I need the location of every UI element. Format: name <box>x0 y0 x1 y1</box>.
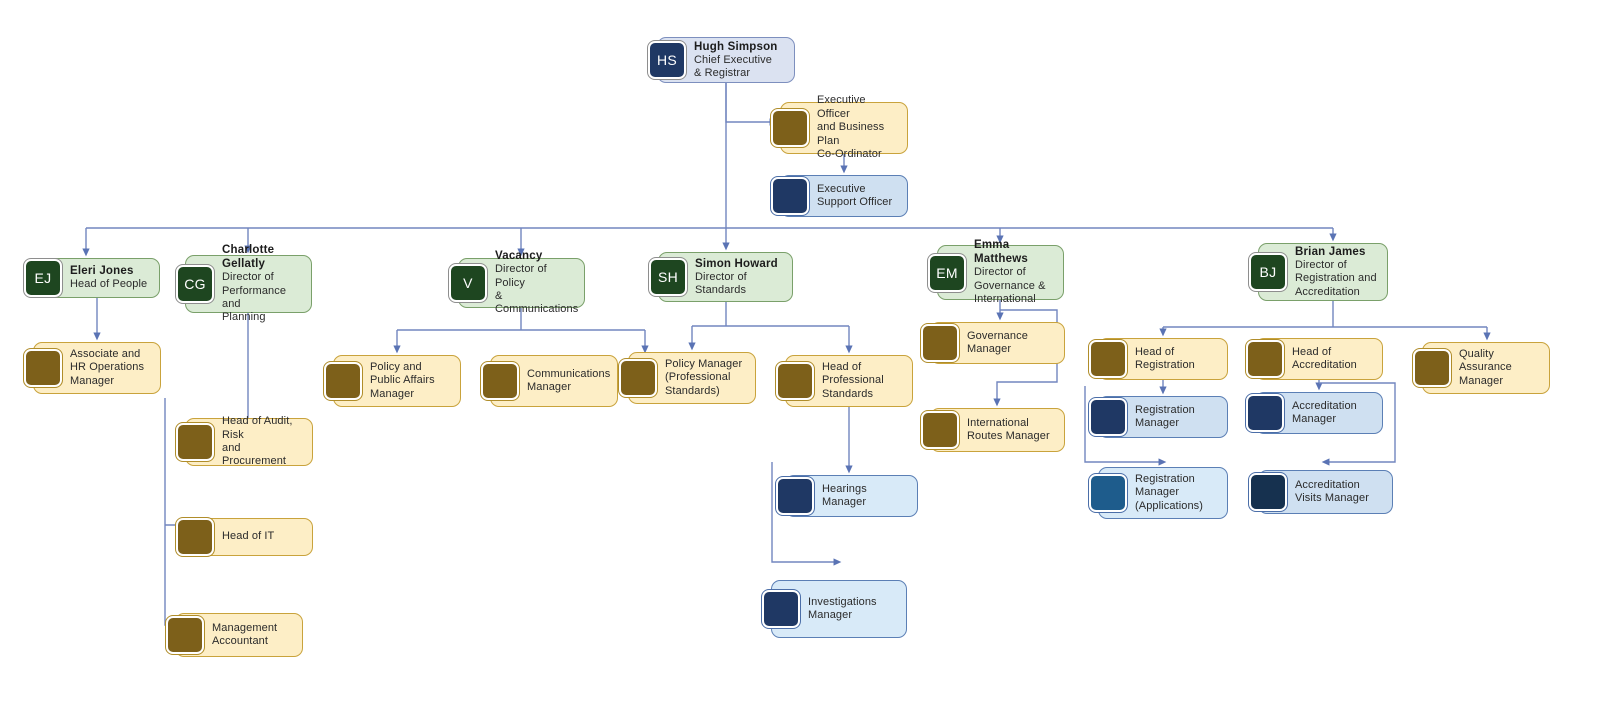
node-role-ceo-line1: & Registrar <box>694 67 786 80</box>
avatar-icon-acc_mgr <box>1246 394 1284 432</box>
avatar-icon-ceo: HS <box>648 41 686 79</box>
avatar-icon-comms <box>481 362 519 400</box>
org-node-emma[interactable]: EMEmma MatthewsDirector ofGovernance &In… <box>937 245 1064 300</box>
node-name-charlotte: Charlotte Gellatly <box>222 243 303 271</box>
org-node-charlotte[interactable]: CGCharlotte GellatlyDirector ofPerforman… <box>185 255 312 313</box>
org-node-reg_mgr_app[interactable]: RegistrationManager(Applications) <box>1098 467 1228 519</box>
avatar-icon-simon: SH <box>649 258 687 296</box>
node-role-policy_mgr-line1: (Professional <box>665 371 747 384</box>
node-role-acc_mgr-line1: Manager <box>1292 413 1374 426</box>
node-role-qa_mgr-line2: Manager <box>1459 375 1541 388</box>
org-node-assoc_hr[interactable]: Associate andHR OperationsManager <box>33 342 161 394</box>
node-role-exec_officer-line2: Co-Ordinator <box>817 148 899 161</box>
org-node-policy_pa[interactable]: Policy andPublic AffairsManager <box>333 355 461 407</box>
avatar-icon-gov_mgr <box>921 324 959 362</box>
node-role-exec_support-line0: Executive <box>817 183 899 196</box>
avatar-icon-acc_visits <box>1249 473 1287 511</box>
connector-ceo-to-exec-officer <box>726 83 774 122</box>
node-role-charlotte-line2: Planning <box>222 311 303 324</box>
org-node-brian[interactable]: BJBrian JamesDirector ofRegistration and… <box>1258 243 1388 301</box>
org-node-ceo[interactable]: HSHugh SimpsonChief Executive& Registrar <box>657 37 795 83</box>
node-role-assoc_hr-line1: HR Operations <box>70 361 152 374</box>
avatar-icon-vacancy: V <box>449 264 487 302</box>
node-role-head_ps-line2: Standards <box>822 388 904 401</box>
org-node-reg_mgr[interactable]: RegistrationManager <box>1098 396 1228 438</box>
node-role-mgmt_acct-line1: Accountant <box>212 635 294 648</box>
org-node-head_reg[interactable]: Head ofRegistration <box>1098 338 1228 380</box>
node-role-audit-line0: Head of Audit, Risk <box>222 415 304 442</box>
org-node-gov_mgr[interactable]: GovernanceManager <box>930 322 1065 364</box>
node-role-audit-line1: and Procurement <box>222 442 304 469</box>
node-role-head_acc-line0: Head of <box>1292 346 1374 359</box>
org-node-mgmt_acct[interactable]: ManagementAccountant <box>175 613 303 657</box>
org-node-comms[interactable]: CommunicationsManager <box>490 355 618 407</box>
org-node-acc_visits[interactable]: AccreditationVisits Manager <box>1258 470 1393 514</box>
node-role-simon-line0: Director of <box>695 271 784 284</box>
node-role-vacancy-line1: & Communications <box>495 290 576 317</box>
org-node-intl_routes[interactable]: InternationalRoutes Manager <box>930 408 1065 452</box>
avatar-icon-head_reg <box>1089 340 1127 378</box>
node-role-reg_mgr_app-line1: Manager <box>1135 486 1219 499</box>
avatar-icon-audit <box>176 423 214 461</box>
node-name-vacancy: Vacancy <box>495 249 576 263</box>
org-node-head_ps[interactable]: Head ofProfessionalStandards <box>785 355 913 407</box>
node-role-mgmt_acct-line0: Management <box>212 622 294 635</box>
avatar-icon-exec_support <box>771 177 809 215</box>
org-node-simon[interactable]: SHSimon HowardDirector ofStandards <box>658 252 793 302</box>
node-role-brian-line2: Accreditation <box>1295 286 1379 299</box>
avatar-icon-reg_mgr_app <box>1089 474 1127 512</box>
org-node-head_it[interactable]: Head of IT <box>185 518 313 556</box>
node-role-head_ps-line1: Professional <box>822 374 904 387</box>
node-role-reg_mgr-line0: Registration <box>1135 404 1219 417</box>
avatar-icon-hearings <box>776 477 814 515</box>
node-role-gov_mgr-line1: Manager <box>967 343 1056 356</box>
node-role-assoc_hr-line0: Associate and <box>70 348 152 361</box>
avatar-icon-reg_mgr <box>1089 398 1127 436</box>
node-role-policy_pa-line1: Public Affairs <box>370 374 452 387</box>
node-role-reg_mgr-line1: Manager <box>1135 417 1219 430</box>
avatar-icon-emma: EM <box>928 254 966 292</box>
node-role-policy_mgr-line2: Standards) <box>665 385 747 398</box>
org-node-exec_support[interactable]: ExecutiveSupport Officer <box>780 175 908 217</box>
node-role-hearings-line0: Hearings <box>822 483 909 496</box>
node-name-eleri: Eleri Jones <box>70 264 151 278</box>
node-role-exec_officer-line1: and Business Plan <box>817 121 899 148</box>
node-role-charlotte-line1: Performance and <box>222 285 303 312</box>
node-role-policy_mgr-line0: Policy Manager <box>665 358 747 371</box>
node-role-comms-line0: Communications <box>527 368 609 381</box>
org-node-eleri[interactable]: EJEleri JonesHead of People <box>33 258 160 298</box>
node-name-brian: Brian James <box>1295 245 1379 259</box>
avatar-icon-qa_mgr <box>1413 349 1451 387</box>
avatar-icon-charlotte: CG <box>176 265 214 303</box>
node-role-emma-line1: Governance & <box>974 280 1055 293</box>
avatar-icon-brian: BJ <box>1249 253 1287 291</box>
node-role-head_reg-line1: Registration <box>1135 359 1219 372</box>
node-name-emma: Emma Matthews <box>974 238 1055 266</box>
node-role-brian-line1: Registration and <box>1295 272 1379 285</box>
node-role-intl_routes-line0: International <box>967 417 1056 430</box>
avatar-icon-mgmt_acct <box>166 616 204 654</box>
node-role-brian-line0: Director of <box>1295 259 1379 272</box>
node-role-policy_pa-line2: Manager <box>370 388 452 401</box>
node-role-emma-line0: Director of <box>974 266 1055 279</box>
org-chart-canvas: HSHugh SimpsonChief Executive& Registrar… <box>0 0 1600 709</box>
avatar-icon-exec_officer <box>771 109 809 147</box>
avatar-icon-policy_pa <box>324 362 362 400</box>
avatar-icon-investigations <box>762 590 800 628</box>
node-role-comms-line1: Manager <box>527 381 609 394</box>
node-role-reg_mgr_app-line0: Registration <box>1135 473 1219 486</box>
node-role-policy_pa-line0: Policy and <box>370 361 452 374</box>
node-role-gov_mgr-line0: Governance <box>967 330 1056 343</box>
org-node-audit[interactable]: Head of Audit, Riskand Procurement <box>185 418 313 466</box>
node-role-investigations-line0: Investigations <box>808 596 898 609</box>
node-role-acc_visits-line1: Visits Manager <box>1295 492 1384 505</box>
node-role-exec_support-line1: Support Officer <box>817 196 899 209</box>
org-node-hearings[interactable]: HearingsManager <box>785 475 918 517</box>
node-role-vacancy-line0: Director of Policy <box>495 263 576 290</box>
node-role-exec_officer-line0: Executive Officer <box>817 94 899 121</box>
org-node-investigations[interactable]: InvestigationsManager <box>771 580 907 638</box>
node-role-qa_mgr-line1: Assurance <box>1459 361 1541 374</box>
node-role-qa_mgr-line0: Quality <box>1459 348 1541 361</box>
node-role-charlotte-line0: Director of <box>222 271 303 284</box>
avatar-icon-intl_routes <box>921 411 959 449</box>
avatar-icon-head_acc <box>1246 340 1284 378</box>
node-role-head_it-line0: Head of IT <box>222 530 304 543</box>
avatar-icon-policy_mgr <box>619 359 657 397</box>
node-role-acc_visits-line0: Accreditation <box>1295 479 1384 492</box>
node-role-ceo-line0: Chief Executive <box>694 54 786 67</box>
node-name-simon: Simon Howard <box>695 257 784 271</box>
avatar-icon-head_ps <box>776 362 814 400</box>
org-node-acc_mgr[interactable]: AccreditationManager <box>1255 392 1383 434</box>
node-role-acc_mgr-line0: Accreditation <box>1292 400 1374 413</box>
org-node-policy_mgr[interactable]: Policy Manager(ProfessionalStandards) <box>628 352 756 404</box>
node-role-head_reg-line0: Head of <box>1135 346 1219 359</box>
node-name-ceo: Hugh Simpson <box>694 40 786 54</box>
node-role-head_acc-line1: Accreditation <box>1292 359 1374 372</box>
avatar-icon-head_it <box>176 518 214 556</box>
node-role-emma-line2: International <box>974 293 1055 306</box>
org-node-qa_mgr[interactable]: QualityAssuranceManager <box>1422 342 1550 394</box>
node-role-reg_mgr_app-line2: (Applications) <box>1135 500 1219 513</box>
org-node-vacancy[interactable]: VVacancyDirector of Policy& Communicatio… <box>458 258 585 308</box>
avatar-icon-eleri: EJ <box>24 259 62 297</box>
avatar-icon-assoc_hr <box>24 349 62 387</box>
node-role-assoc_hr-line2: Manager <box>70 375 152 388</box>
node-role-simon-line1: Standards <box>695 284 784 297</box>
node-role-intl_routes-line1: Routes Manager <box>967 430 1056 443</box>
org-node-exec_officer[interactable]: Executive Officerand Business PlanCo-Ord… <box>780 102 908 154</box>
org-node-head_acc[interactable]: Head ofAccreditation <box>1255 338 1383 380</box>
node-role-investigations-line1: Manager <box>808 609 898 622</box>
node-role-head_ps-line0: Head of <box>822 361 904 374</box>
node-role-hearings-line1: Manager <box>822 496 909 509</box>
node-role-eleri-line0: Head of People <box>70 278 151 291</box>
